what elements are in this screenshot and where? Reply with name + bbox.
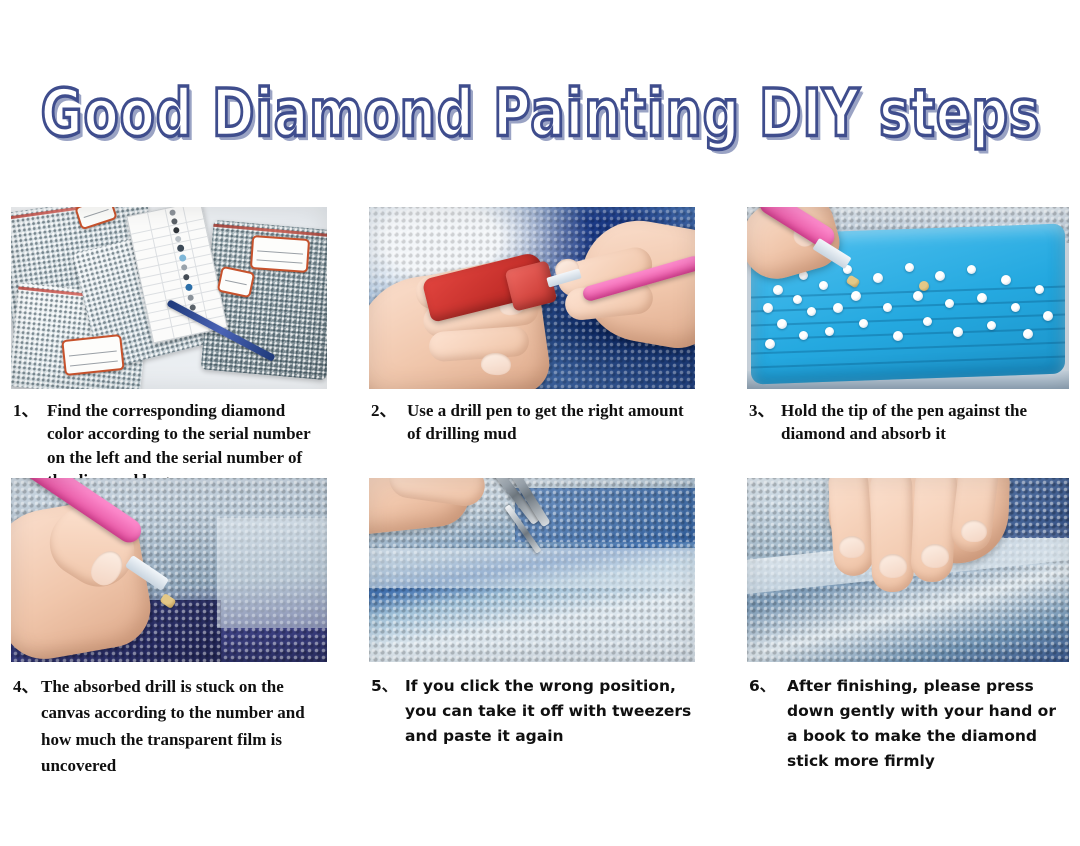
step-text-4: The absorbed drill is stuck on the canva… bbox=[41, 674, 325, 779]
step-caption-2: 2、 Use a drill pen to get the right amou… bbox=[371, 399, 693, 446]
bag-number-label bbox=[250, 235, 310, 273]
step-card-1: 1、 Find the corresponding diamond color … bbox=[11, 207, 327, 467]
step-number-2: 2、 bbox=[371, 399, 397, 422]
gold-drill bbox=[919, 281, 929, 291]
step-card-3: 3、 Hold the tip of the pen against the d… bbox=[747, 207, 1069, 467]
step-card-6: 6、 After finishing, please press down ge… bbox=[747, 478, 1069, 748]
tweezers-removing-drill-photo bbox=[369, 478, 695, 662]
step-text-2: Use a drill pen to get the right amount … bbox=[407, 399, 693, 446]
steps-grid: 1、 Find the corresponding diamond color … bbox=[0, 0, 1080, 846]
step-number-5: 5、 bbox=[371, 674, 397, 699]
step-caption-6: 6、 After finishing, please press down ge… bbox=[749, 674, 1069, 774]
placing-drill-on-canvas-photo bbox=[11, 478, 327, 662]
diamond-bags-and-color-chart-photo bbox=[11, 207, 327, 389]
step-number-6: 6、 bbox=[749, 674, 775, 699]
bag-number-label bbox=[61, 334, 124, 376]
step-text-3: Hold the tip of the pen against the diam… bbox=[781, 399, 1069, 446]
pressing-canvas-by-hand-photo bbox=[747, 478, 1069, 662]
step-number-4: 4、 bbox=[13, 674, 39, 700]
step-caption-4: 4、 The absorbed drill is stuck on the ca… bbox=[13, 674, 325, 779]
step-card-5: 5、 If you click the wrong position, you … bbox=[369, 478, 695, 748]
step-number-3: 3、 bbox=[749, 399, 775, 422]
pen-picking-drill-from-tray-photo bbox=[747, 207, 1069, 389]
step-card-4: 4、 The absorbed drill is stuck on the ca… bbox=[11, 478, 327, 748]
drill-pen-with-glue-photo bbox=[369, 207, 695, 389]
step-card-2: 2、 Use a drill pen to get the right amou… bbox=[369, 207, 695, 467]
diamond-painting-instructions-page: Good Diamond Painting DIY steps bbox=[0, 0, 1080, 846]
step-caption-3: 3、 Hold the tip of the pen against the d… bbox=[749, 399, 1069, 446]
step-text-5: If you click the wrong position, you can… bbox=[405, 674, 693, 749]
step-text-6: After finishing, please press down gentl… bbox=[787, 674, 1069, 774]
step-number-1: 1、 bbox=[13, 399, 39, 422]
step-caption-5: 5、 If you click the wrong position, you … bbox=[371, 674, 693, 749]
